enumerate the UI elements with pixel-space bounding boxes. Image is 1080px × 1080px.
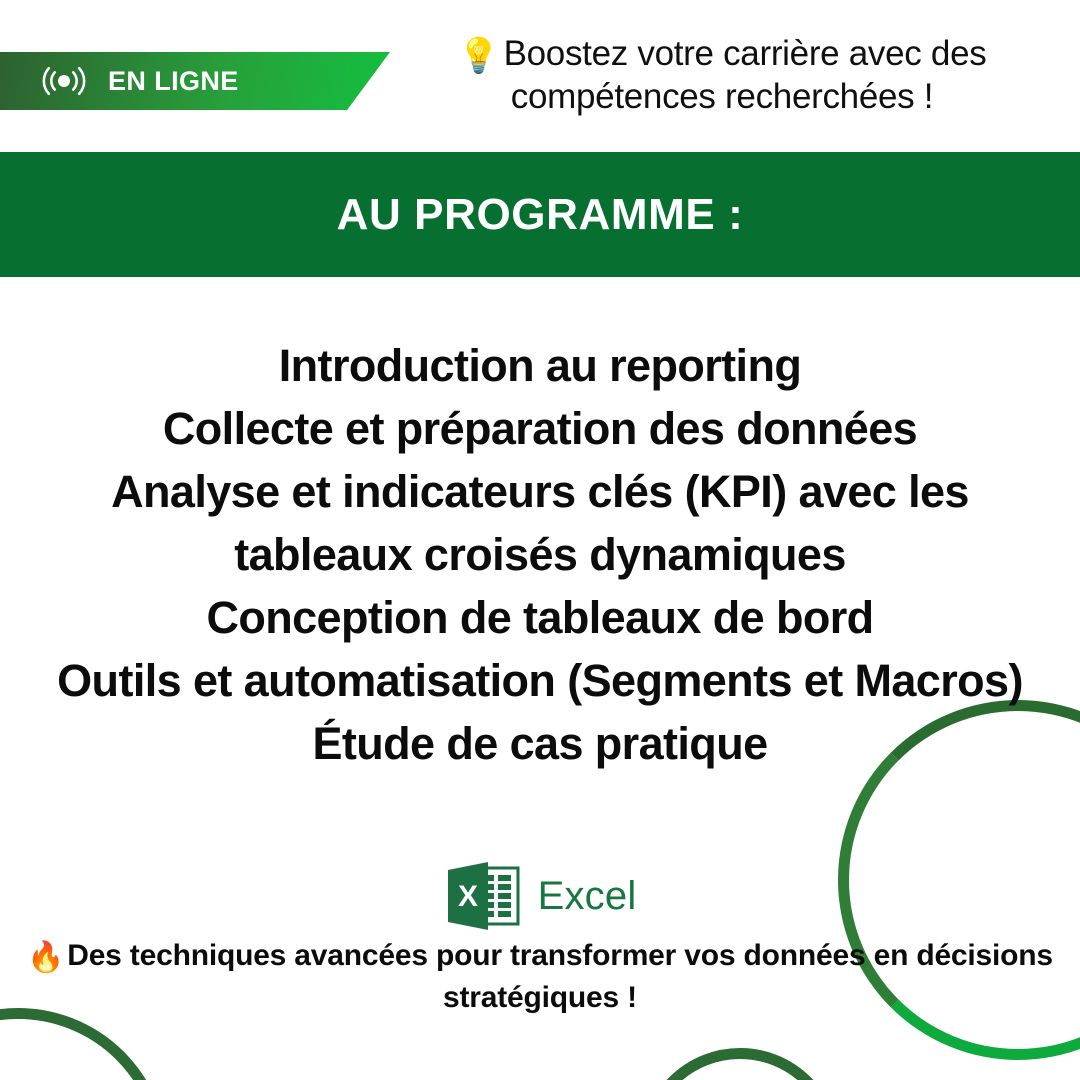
poster-canvas: EN LIGNE 💡Boostez votre carrière avec de… [0,0,1080,1080]
header-tagline-text: Boostez votre carrière avec des compéten… [504,34,987,116]
program-item: Étude de cas pratique [20,712,1060,775]
program-item: Collecte et préparation des données [20,397,1060,460]
excel-logo: X Excel [0,860,1080,932]
excel-wordmark: Excel [538,874,637,919]
program-item: Conception de tableaux de bord [20,586,1060,649]
program-item: Analyse et indicateurs clés (KPI) avec l… [20,460,1060,586]
live-badge: EN LIGNE [0,52,390,110]
header-tagline: 💡Boostez votre carrière avec des compéte… [392,34,1052,118]
program-item: Outils et automatisation (Segments et Ma… [20,649,1060,712]
decorative-ring-bottom-center [640,1048,840,1080]
program-list: Introduction au reporting Collecte et pr… [20,334,1060,775]
decorative-ring-bottom-left [0,1008,168,1080]
program-item: Introduction au reporting [20,334,1060,397]
excel-icon: X [444,860,522,932]
live-broadcast-icon [42,65,86,97]
program-band-title: AU PROGRAMME : [337,190,744,240]
footer-note-text: Des techniques avancées pour transformer… [67,939,1053,1014]
lightbulb-icon: 💡 [458,37,500,75]
live-badge-label: EN LIGNE [108,66,239,97]
svg-text:X: X [458,880,478,913]
footer-note: 🔥Des techniques avancées pour transforme… [10,936,1070,1018]
header-row: EN LIGNE 💡Boostez votre carrière avec de… [0,0,1080,152]
program-band: AU PROGRAMME : [0,152,1080,277]
fire-icon: 🔥 [27,941,64,974]
